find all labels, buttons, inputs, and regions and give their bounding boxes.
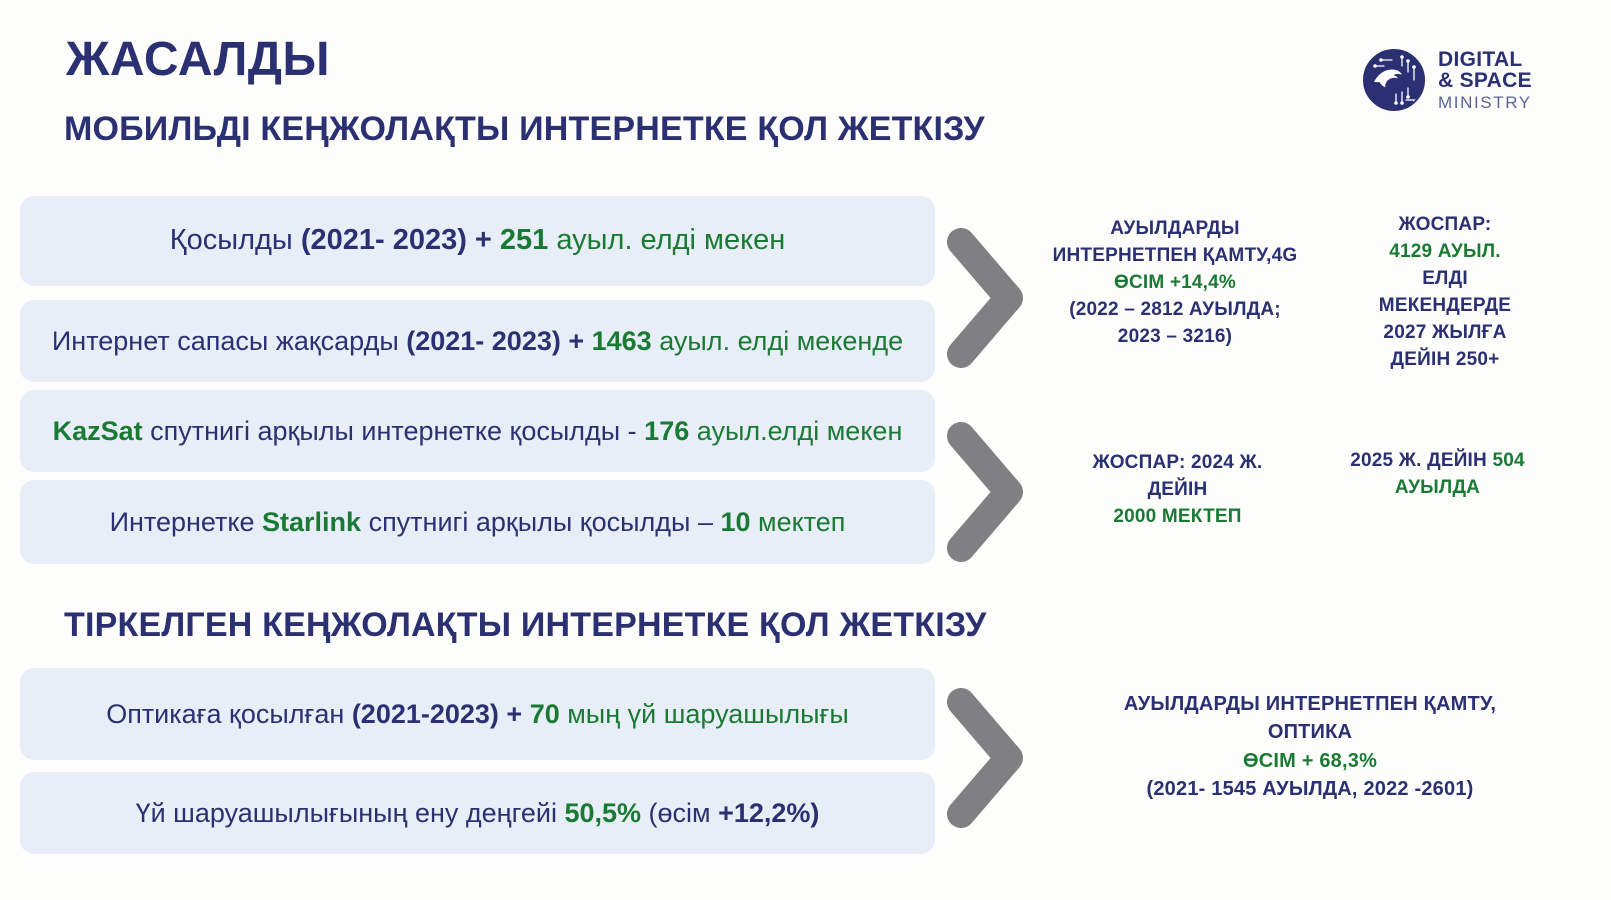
section-title-mobile-broadband: МОБИЛЬДІ КЕҢЖОЛАҚТЫ ИНТЕРНЕТКЕ ҚОЛ ЖЕТКІ… [64,112,985,146]
card-text-run: Интернет сапасы жақсарды [52,326,406,356]
logo-line-digital: DIGITAL [1438,49,1532,70]
card-text-run: Қосылды [170,224,301,256]
chevron-right-icon-3 [945,688,1025,828]
card-text-run: Starlink [262,507,361,537]
page-title: ЖАСАЛДЫ [66,36,330,84]
stat-line: ОПТИКА [1040,718,1580,746]
info-card-optics-households: Оптикаға қосылған (2021-2023) + 70 мың ү… [20,668,935,760]
stat-plan-2024-schools: ЖОСПАР: 2024 Ж.ДЕЙІН2000 МЕКТЕП [1055,450,1300,531]
stat-line: ӨСІМ +14,4% [1040,270,1310,297]
stat-line: ӨСІМ + 68,3% [1040,747,1580,775]
stat-plan-2025-villages: 2025 Ж. ДЕЙІН 504АУЫЛДА [1305,448,1570,502]
card-text-run: мектеп [751,507,846,537]
stat-line: 2027 ЖЫЛҒА [1320,320,1570,347]
stat-line: ДЕЙІН [1055,477,1300,504]
card-text-run: (2021- 2023) + [301,224,500,256]
info-card-internet-quality: Интернет сапасы жақсарды (2021- 2023) + … [20,300,935,382]
infographic-slide: ЖАСАЛДЫ МОБИЛЬДІ КЕҢЖОЛАҚТЫ ИНТЕРНЕТКЕ Қ… [0,0,1611,900]
card-text: KazSat спутнигі арқылы интернетке қосылд… [53,414,903,449]
stat-optics-coverage: АУЫЛДАРДЫ ИНТЕРНЕТПЕН ҚАМТУ,ОПТИКАӨСІМ +… [1040,690,1580,804]
card-text-run: ауыл.елді мекен [689,416,902,446]
card-text: Интернетке Starlink спутнигі арқылы қосы… [110,505,846,540]
logo-line-space: & SPACE [1438,70,1532,91]
card-text-run: 10 [720,507,750,537]
stat-line: 4129 АУЫЛ. [1320,239,1570,266]
stat-line: ДЕЙІН 250+ [1320,347,1570,374]
stat-plan-4129: ЖОСПАР:4129 АУЫЛ.ЕЛДІМЕКЕНДЕРДЕ2027 ЖЫЛҒ… [1320,212,1570,374]
stat-line: ЕЛДІ [1320,266,1570,293]
stat-line: (2022 – 2812 АУЫЛДА; [1040,297,1310,324]
stat-line-number: 504 [1492,450,1524,471]
stat-line: ИНТЕРНЕТПЕН ҚАМТУ,4G [1040,243,1310,270]
info-card-penetration: Үй шаруашылығының ену деңгейі 50,5% (өсі… [20,772,935,854]
card-text-run: 251 [500,224,548,256]
stat-line: МЕКЕНДЕРДЕ [1320,293,1570,320]
card-text-run: 1463 [592,326,652,356]
card-text: Оптикаға қосылған (2021-2023) + 70 мың ү… [106,697,849,732]
card-text-run: 50,5% [564,798,641,828]
card-text-run: (өсім [641,798,718,828]
stat-line: АУЫЛДАРДЫ [1040,216,1310,243]
logo-line-ministry: MINISTRY [1438,94,1532,111]
card-text-run: +12,2%) [718,798,819,828]
stat-line: 2023 – 3216) [1040,324,1310,351]
stat-line: 2025 Ж. ДЕЙІН 504 [1305,448,1570,475]
card-text-run: ауыл. елді мекенде [652,326,903,356]
card-text-run: ауыл. елді мекен [548,224,785,256]
info-card-starlink: Интернетке Starlink спутнигі арқылы қосы… [20,480,935,564]
card-text-run: спутнигі арқылы қосылды – [361,507,720,537]
card-text: Үй шаруашылығының ену деңгейі 50,5% (өсі… [136,796,820,831]
stat-line-text: 2025 Ж. ДЕЙІН [1350,450,1492,471]
stat-line: АУЫЛДА [1305,475,1570,502]
ministry-logo: DIGITAL & SPACE MINISTRY [1362,40,1552,120]
card-text-run: Интернетке [110,507,262,537]
card-text-run: Үй шаруашылығының ену деңгейі [136,798,565,828]
card-text-run: Оптикаға қосылған [106,699,352,729]
card-text-run: 70 [530,699,560,729]
globe-circuit-eagle-icon [1362,48,1426,112]
card-text-run: мың үй шаруашылығы [560,699,849,729]
card-text: Интернет сапасы жақсарды (2021- 2023) + … [52,324,903,359]
card-text-run: 176 [644,416,689,446]
card-text-run: спутнигі арқылы интернетке қосылды - [143,416,645,446]
chevron-right-icon-2 [945,422,1025,562]
stat-line: АУЫЛДАРДЫ ИНТЕРНЕТПЕН ҚАМТУ, [1040,690,1580,718]
stat-line: ЖОСПАР: 2024 Ж. [1055,450,1300,477]
header: ЖАСАЛДЫ МОБИЛЬДІ КЕҢЖОЛАҚТЫ ИНТЕРНЕТКЕ Қ… [0,0,1611,175]
card-text: Қосылды (2021- 2023) + 251 ауыл. елді ме… [170,222,786,259]
stat-line: ЖОСПАР: [1320,212,1570,239]
stat-4g-coverage: АУЫЛДАРДЫИНТЕРНЕТПЕН ҚАМТУ,4GӨСІМ +14,4%… [1040,216,1310,351]
stat-line: 2000 МЕКТЕП [1055,504,1300,531]
card-text-run: (2021- 2023) + [406,326,591,356]
info-card-mobile-connected: Қосылды (2021- 2023) + 251 ауыл. елді ме… [20,196,935,286]
info-card-kazsat: KazSat спутнигі арқылы интернетке қосылд… [20,390,935,472]
chevron-right-icon-1 [945,228,1025,368]
stat-line: (2021- 1545 АУЫЛДА, 2022 -2601) [1040,775,1580,803]
card-text-run: (2021-2023) + [352,699,530,729]
section-title-fixed-broadband: ТІРКЕЛГЕН КЕҢЖОЛАҚТЫ ИНТЕРНЕТКЕ ҚОЛ ЖЕТК… [64,608,986,642]
card-text-run: KazSat [53,416,143,446]
